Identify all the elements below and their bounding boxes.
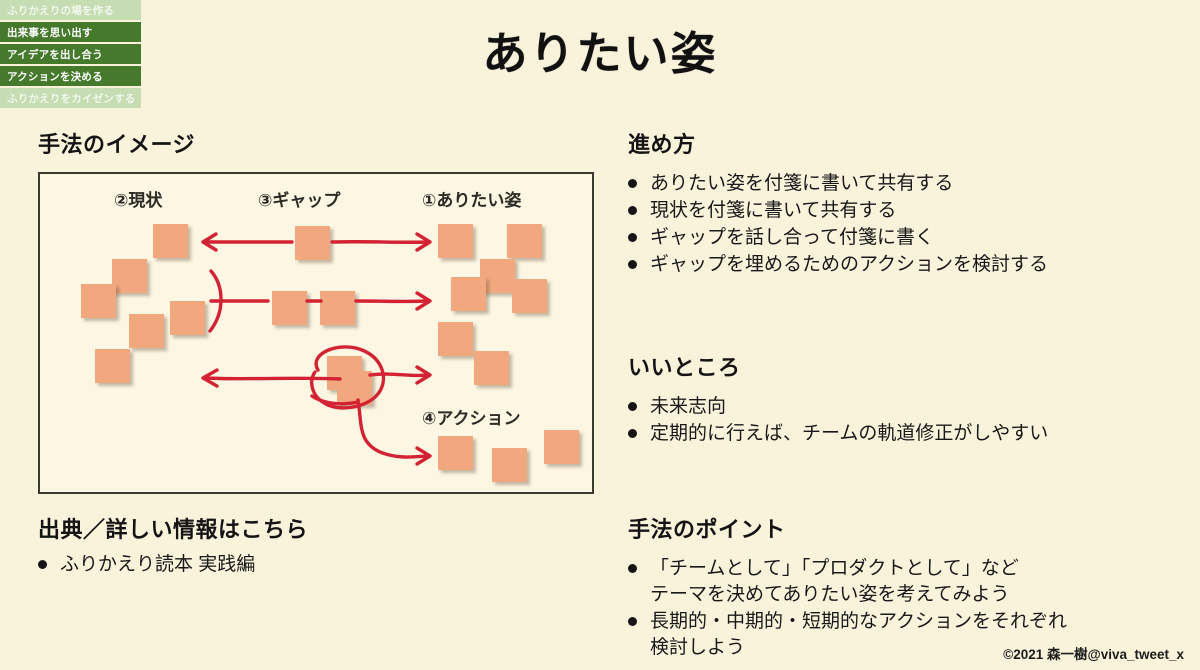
step-tabs: ふりかえりの場を作る 出来事を思い出す アイデアを出し合う アクションを決める … — [0, 0, 141, 108]
diagram-frame: ②現状 ③ギャップ ①ありたい姿 ④アクション — [38, 172, 594, 494]
list-item-label: 定期的に行えば、チームの軌道修正がしやすい — [650, 421, 1048, 447]
step-tab-4[interactable]: アクションを決める — [0, 66, 141, 86]
bullet-dot-icon — [628, 206, 637, 215]
bullet-dot-icon — [38, 560, 47, 569]
list-item: ふりかえり読本 実践編 — [38, 552, 598, 578]
howto-list: ありたい姿を付箋に書いて共有する 現状を付箋に書いて共有する ギャップを話し合っ… — [628, 171, 1188, 278]
list-item-label: ふりかえり読本 実践編 — [60, 552, 255, 578]
good-points-section: いいところ 未来志向 定期的に行えば、チームの軌道修正がしやすい — [628, 350, 1188, 448]
list-item: ありたい姿を付箋に書いて共有する — [628, 171, 1188, 197]
howto-section: 進め方 ありたい姿を付箋に書いて共有する 現状を付箋に書いて共有する ギャップを… — [628, 127, 1188, 279]
step-tab-3[interactable]: アイデアを出し合う — [0, 44, 141, 64]
source-section: 出典／詳しい情報はこちら ふりかえり読本 実践編 — [38, 512, 598, 579]
list-item-label: ギャップを埋めるためのアクションを検討する — [650, 252, 1048, 278]
step-tab-1[interactable]: ふりかえりの場を作る — [0, 0, 141, 20]
bullet-dot-icon — [628, 617, 637, 626]
points-section: 手法のポイント 「チームとして」「プロダクトとして」など テーマを決めてありたい… — [628, 512, 1188, 662]
list-item-label: 現状を付箋に書いて共有する — [650, 198, 896, 224]
bullet-dot-icon — [628, 179, 637, 188]
howto-heading: 進め方 — [628, 127, 1188, 159]
source-list: ふりかえり読本 実践編 — [38, 552, 598, 578]
diagram-arrows — [40, 174, 592, 492]
step-tab-5[interactable]: ふりかえりをカイゼンする — [0, 88, 141, 108]
slide-canvas: ふりかえりの場を作る 出来事を思い出す アイデアを出し合う アクションを決める … — [0, 0, 1200, 670]
step-tab-label: アイデアを出し合う — [7, 47, 103, 62]
footer-credit: ©2021 森一樹@viva_tweet_x — [1003, 643, 1184, 663]
step-tab-label: 出来事を思い出す — [7, 25, 93, 40]
good-points-heading: いいところ — [628, 350, 1188, 382]
page-title: ありたい姿 — [0, 17, 1200, 82]
bullet-dot-icon — [628, 233, 637, 242]
bullet-dot-icon — [628, 429, 637, 438]
diagram-section: 手法のイメージ ②現状 ③ギャップ ①ありたい姿 ④アクション — [38, 127, 598, 494]
list-item-label: ギャップを話し合って付箋に書く — [650, 225, 934, 251]
bullet-dot-icon — [628, 402, 637, 411]
good-points-list: 未来志向 定期的に行えば、チームの軌道修正がしやすい — [628, 394, 1188, 447]
step-tab-label: ふりかえりをカイゼンする — [7, 91, 135, 106]
points-heading: 手法のポイント — [628, 512, 1188, 544]
list-item-label: 「チームとして」「プロダクトとして」など テーマを決めてありたい姿を考えてみよう — [650, 556, 1019, 608]
list-item: 現状を付箋に書いて共有する — [628, 198, 1188, 224]
diagram-heading: 手法のイメージ — [38, 127, 598, 159]
list-item: 定期的に行えば、チームの軌道修正がしやすい — [628, 421, 1188, 447]
step-tab-label: アクションを決める — [7, 69, 103, 84]
list-item-label: 未来志向 — [650, 394, 726, 420]
bullet-dot-icon — [628, 260, 637, 269]
list-item: ギャップを話し合って付箋に書く — [628, 225, 1188, 251]
list-item: ギャップを埋めるためのアクションを検討する — [628, 252, 1188, 278]
step-tab-label: ふりかえりの場を作る — [7, 3, 114, 18]
list-item: 「チームとして」「プロダクトとして」など テーマを決めてありたい姿を考えてみよう — [628, 556, 1188, 608]
bullet-dot-icon — [628, 564, 637, 573]
list-item: 未来志向 — [628, 394, 1188, 420]
list-item-label: ありたい姿を付箋に書いて共有する — [650, 171, 953, 197]
step-tab-2[interactable]: 出来事を思い出す — [0, 22, 141, 42]
source-heading: 出典／詳しい情報はこちら — [38, 512, 598, 544]
